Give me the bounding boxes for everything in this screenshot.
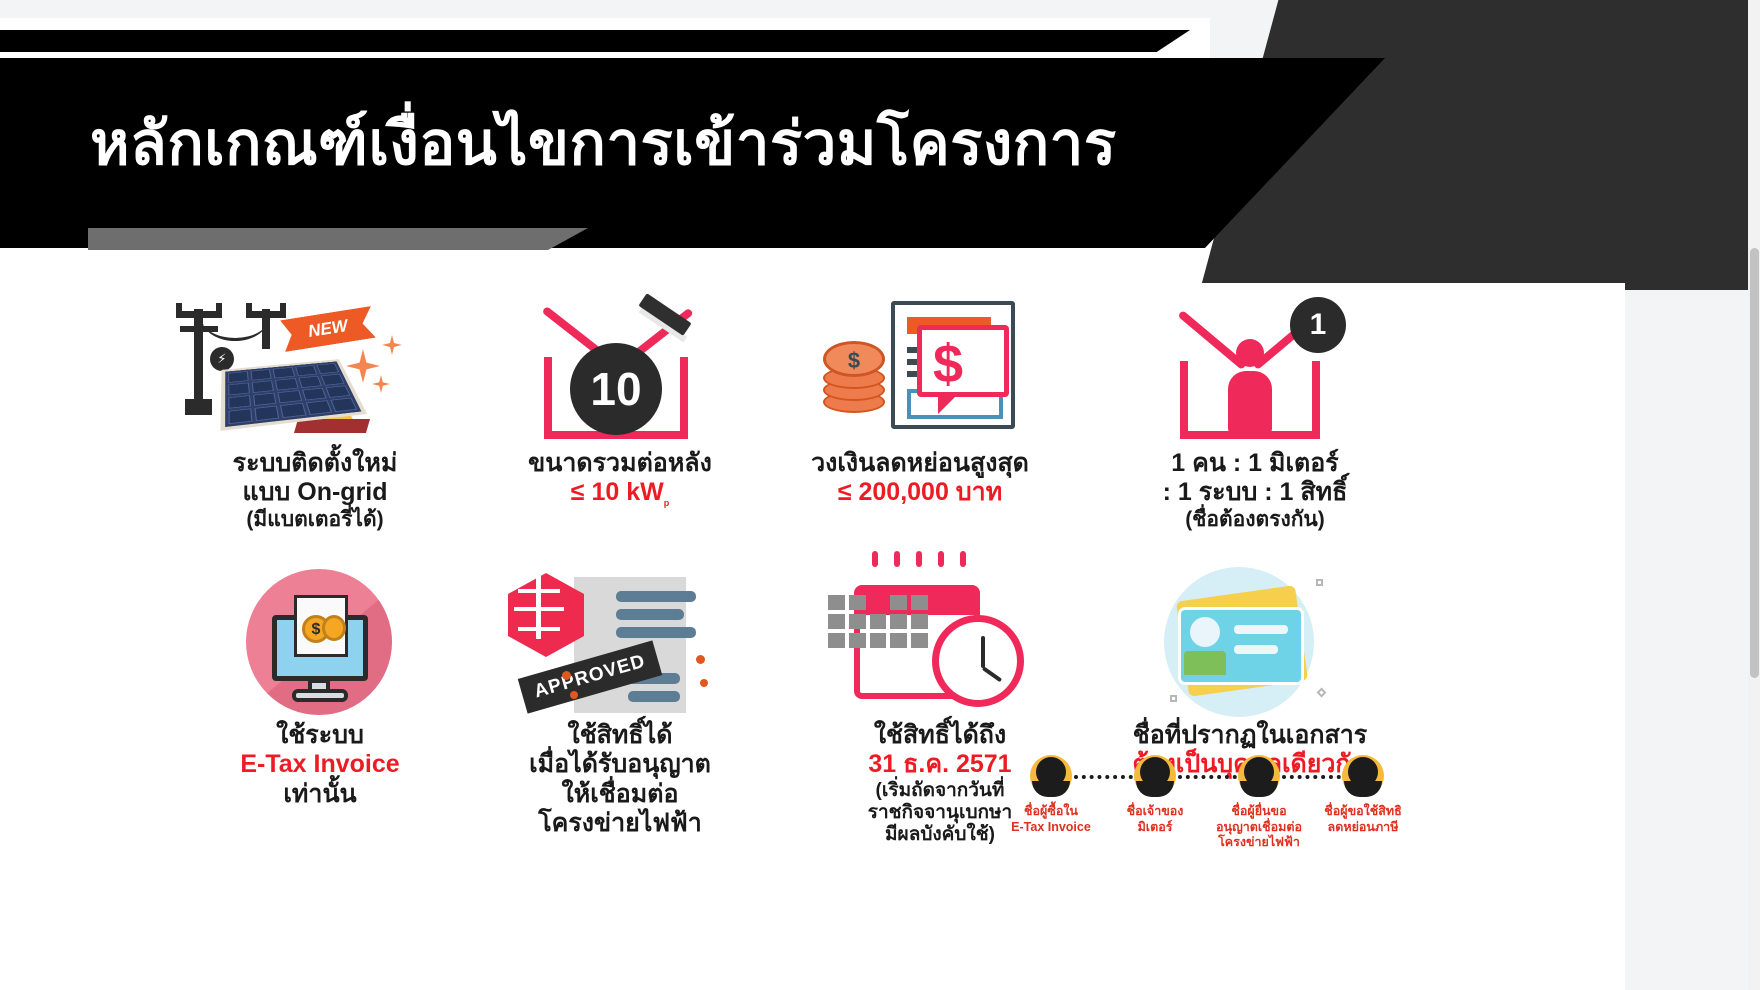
tile-line-3: (มีแบตเตอรี่ได้) bbox=[150, 508, 480, 533]
tile-same-person-on-documents[interactable]: ชื่อที่ปรากฏในเอกสาร ต้องเป็นบุคคลเดียวก… bbox=[1085, 563, 1415, 780]
coin-dollar-badge: $ bbox=[823, 341, 885, 377]
tile-grid-connection-approval[interactable]: APPROVED ใช้สิทธิ์ได้ เมื่อได้รับอนุญาต … bbox=[455, 563, 785, 838]
tile-line-3: ให้เชื่อมต่อ bbox=[455, 780, 785, 809]
dollar-symbol: $ bbox=[933, 333, 963, 395]
tile-line-1: วงเงินลดหย่อนสูงสุด bbox=[755, 449, 1085, 478]
tile-line-1: ขนาดรวมต่อหลัง bbox=[455, 449, 785, 478]
tile-line-4: โครงข่ายไฟฟ้า bbox=[455, 809, 785, 838]
vertical-scrollbar-thumb[interactable] bbox=[1750, 248, 1759, 678]
person-icon bbox=[1030, 755, 1072, 797]
tile-line-3: เท่านั้น bbox=[155, 780, 485, 809]
tile-line-2: ≤ 200,000 บาท bbox=[755, 478, 1085, 507]
tile-line-2: เมื่อได้รับอนุญาต bbox=[455, 750, 785, 779]
chain-person-2: ชื่อเจ้าของ มิเตอร์ bbox=[1134, 755, 1176, 835]
criteria-grid: ⚡ NEW ระบบติดตั้งใหม่ แบบ On-grid (มีแบต… bbox=[130, 283, 1625, 990]
id-card-icon bbox=[1130, 563, 1370, 715]
tile-line-1: ใช้ระบบ bbox=[155, 721, 485, 750]
chain-label-4: ชื่อผู้ขอใช้สิทธิ ลดหย่อนภาษี bbox=[1311, 804, 1415, 835]
new-badge: NEW bbox=[280, 306, 376, 352]
people-chain: ชื่อผู้ซื้อใน E-Tax Invoice ชื่อเจ้าของ … bbox=[1030, 755, 1470, 875]
chain-person-3: ชื่อผู้ยื่นขอ อนุญาตเชื่อมต่อ โครงข่ายไฟ… bbox=[1238, 755, 1280, 851]
tile-line-1: ระบบติดตั้งใหม่ bbox=[150, 449, 480, 478]
person-icon bbox=[1134, 755, 1176, 797]
tile-line-2: E-Tax Invoice bbox=[155, 750, 485, 779]
calendar-clock-icon bbox=[820, 563, 1060, 715]
approval-highlight: ได้รับอนุญาต bbox=[569, 750, 711, 778]
tile-etax-invoice[interactable]: $ ใช้ระบบ E-Tax Invoice เท่านั้น bbox=[155, 563, 485, 809]
invoice-coins-icon: $ $ bbox=[795, 291, 1045, 443]
page-title: หลักเกณฑ์เงื่อนไขการเข้าร่วมโครงการ bbox=[90, 96, 1117, 191]
tile-one-person-one-meter[interactable]: 1 1 คน : 1 มิเตอร์ : 1 ระบบ : 1 สิทธิ์ (… bbox=[1090, 291, 1420, 532]
chain-person-4: ชื่อผู้ขอใช้สิทธิ ลดหย่อนภาษี bbox=[1342, 755, 1384, 835]
tile-max-capacity[interactable]: 10 ขนาดรวมต่อหลัง ≤ 10 kWp bbox=[455, 291, 785, 509]
bolt-icon: ⚡ bbox=[210, 347, 234, 371]
tile-line-1: ชื่อที่ปรากฏในเอกสาร bbox=[1085, 721, 1415, 750]
tile-line-1: ใช้สิทธิ์ได้ถึง bbox=[775, 721, 1105, 750]
tile-line-2: แบบ On-grid bbox=[150, 478, 480, 507]
tile-line-3: (ชื่อต้องตรงกัน) bbox=[1090, 508, 1420, 533]
header-accent-bar bbox=[0, 30, 1190, 52]
house-capacity-icon: 10 bbox=[500, 291, 740, 443]
slide-root: หลักเกณฑ์เงื่อนไขการเข้าร่วมโครงการ ⚡ NE… bbox=[0, 0, 1760, 990]
chain-label-1: ชื่อผู้ซื้อใน E-Tax Invoice bbox=[999, 804, 1103, 835]
house-person-icon: 1 bbox=[1140, 291, 1370, 443]
chain-person-1: ชื่อผู้ซื้อใน E-Tax Invoice bbox=[1030, 755, 1072, 835]
person-icon bbox=[1342, 755, 1384, 797]
count-badge: 1 bbox=[1290, 297, 1346, 353]
person-icon bbox=[1238, 755, 1280, 797]
tile-line-1: ใช้สิทธิ์ได้ bbox=[455, 721, 785, 750]
tile-line-2: ≤ 10 kWp bbox=[455, 478, 785, 509]
tile-max-deduction[interactable]: $ $ วงเงินลดหย่อนสูงสุด ≤ 200,000 บาท bbox=[755, 291, 1085, 508]
ongrid-highlight: On-grid bbox=[297, 478, 387, 506]
capacity-badge: 10 bbox=[570, 343, 662, 435]
chain-label-3: ชื่อผู้ยื่นขอ อนุญาตเชื่อมต่อ โครงข่ายไฟ… bbox=[1207, 804, 1311, 851]
solar-panel-new-icon: ⚡ NEW bbox=[150, 291, 480, 443]
approved-document-icon: APPROVED bbox=[500, 563, 740, 715]
tile-line-2: : 1 ระบบ : 1 สิทธิ์ bbox=[1090, 478, 1420, 507]
tile-new-ongrid-system[interactable]: ⚡ NEW ระบบติดตั้งใหม่ แบบ On-grid (มีแบต… bbox=[150, 291, 480, 532]
header-shadow-bar bbox=[88, 228, 588, 250]
monitor-receipt-icon: $ bbox=[210, 563, 430, 715]
tile-line-1: 1 คน : 1 มิเตอร์ bbox=[1090, 449, 1420, 478]
chain-label-2: ชื่อเจ้าของ มิเตอร์ bbox=[1103, 804, 1207, 835]
